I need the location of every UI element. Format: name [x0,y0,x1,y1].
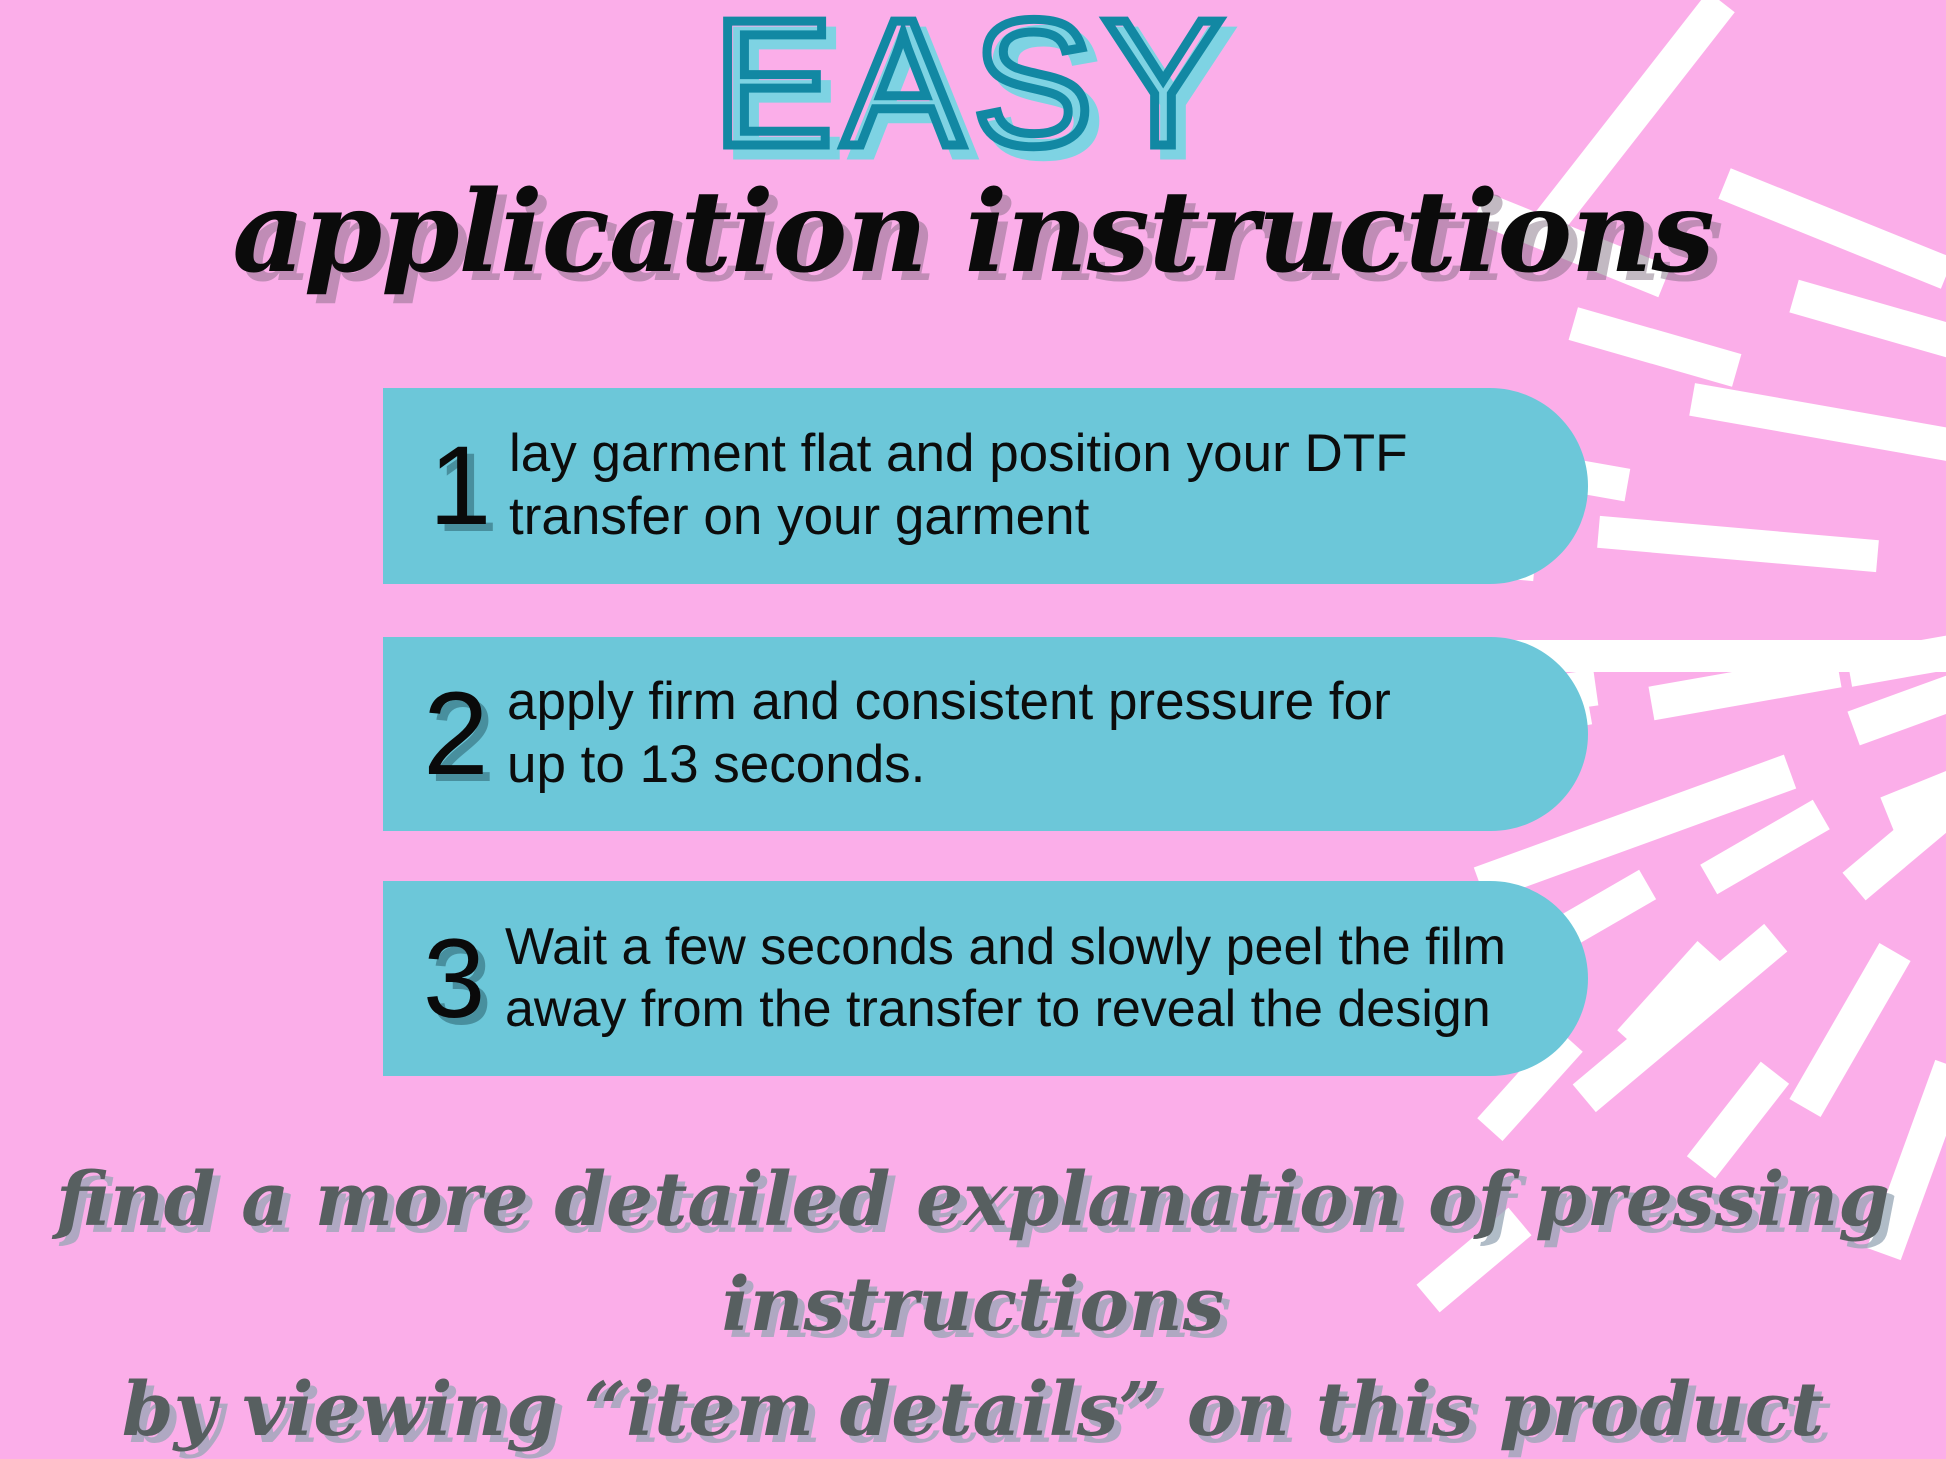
footer-line-2: by viewing “item details” on this produc… [0,1358,1946,1459]
step-card-2: 2 apply firm and consistent pressure for… [383,637,1588,831]
step-number-2: 2 [423,675,509,793]
step-card-3: 3 Wait a few seconds and slowly peel the… [383,881,1588,1076]
poster-canvas: EASY EASY application instructions 1 lay… [0,0,1946,1459]
footer-note: find a more detailed explanation of pres… [0,1148,1946,1459]
step-number-3: 3 [423,923,509,1035]
step-text-1: lay garment flat and position your DTF t… [509,423,1588,548]
page-subtitle-application-instructions: application instructions [232,163,1713,303]
step-number-1: 1 [429,430,515,542]
footer-line-1: find a more detailed explanation of pres… [0,1148,1946,1358]
step-text-3: Wait a few seconds and slowly peel the f… [505,917,1588,1040]
page-title-easy: EASY [0,0,1946,174]
step-text-2: apply firm and consistent pressure for u… [507,671,1588,796]
step-card-1: 1 lay garment flat and position your DTF… [383,388,1588,584]
page-subtitle-wrap: application instructions [0,163,1946,303]
